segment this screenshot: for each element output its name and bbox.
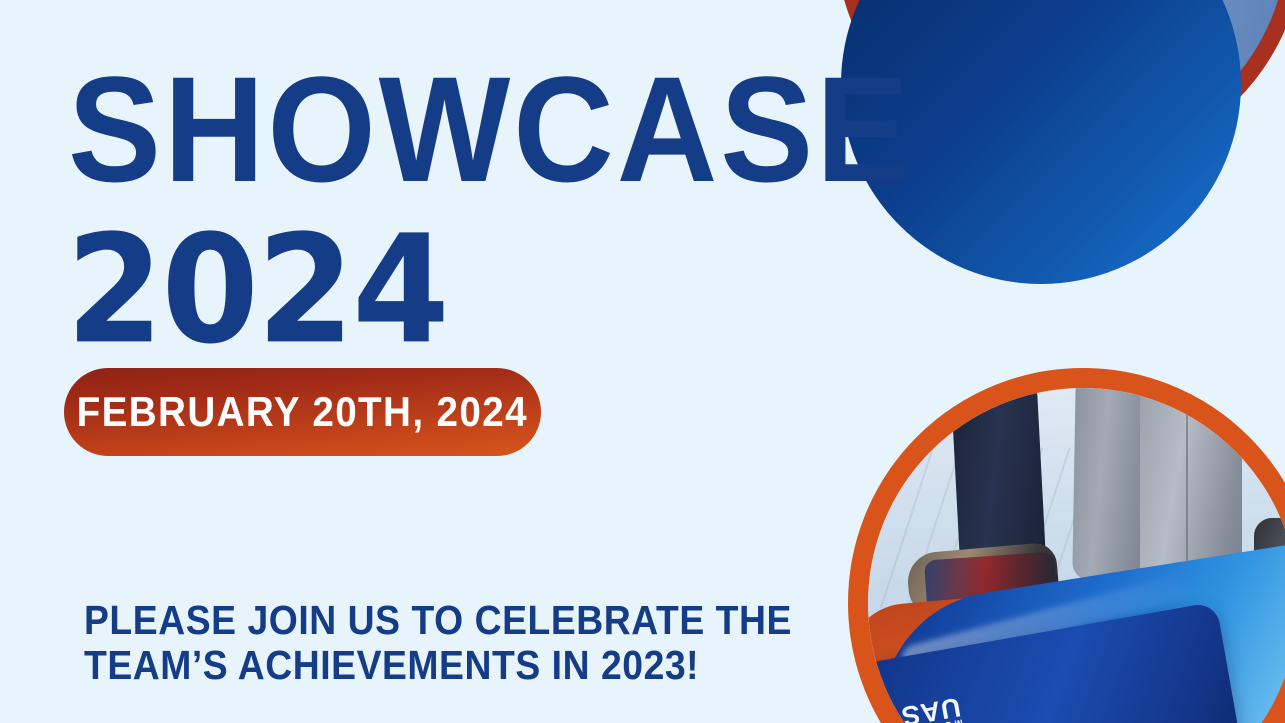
invitation-line-1: PLEASE JOIN US TO CELEBRATE THE (84, 598, 792, 643)
uas-starburst-icon (868, 700, 896, 723)
wing-brand-main: UAS (899, 692, 963, 723)
wing-brand-text: MONASH UAS (899, 696, 963, 723)
invitation-line-2: TEAM’S ACHIEVEMENTS IN 2023! (84, 643, 792, 688)
date-badge: FEBRUARY 20TH, 2024 (64, 368, 541, 456)
uas-photo-circle: MONASH UAS (848, 368, 1285, 723)
year-title: 2024 (66, 216, 448, 366)
page-title: SHOWCASE (68, 62, 912, 197)
showcase-poster: MONASH UAS (0, 0, 1285, 723)
uas-photo-image: MONASH UAS (868, 388, 1285, 723)
person-leg-grey-left (1072, 388, 1146, 582)
monash-uas-logo-group: MONASH UAS (868, 688, 965, 723)
date-badge-label: FEBRUARY 20TH, 2024 (77, 388, 528, 436)
invitation-text: PLEASE JOIN US TO CELEBRATE THE TEAM’S A… (84, 598, 792, 688)
